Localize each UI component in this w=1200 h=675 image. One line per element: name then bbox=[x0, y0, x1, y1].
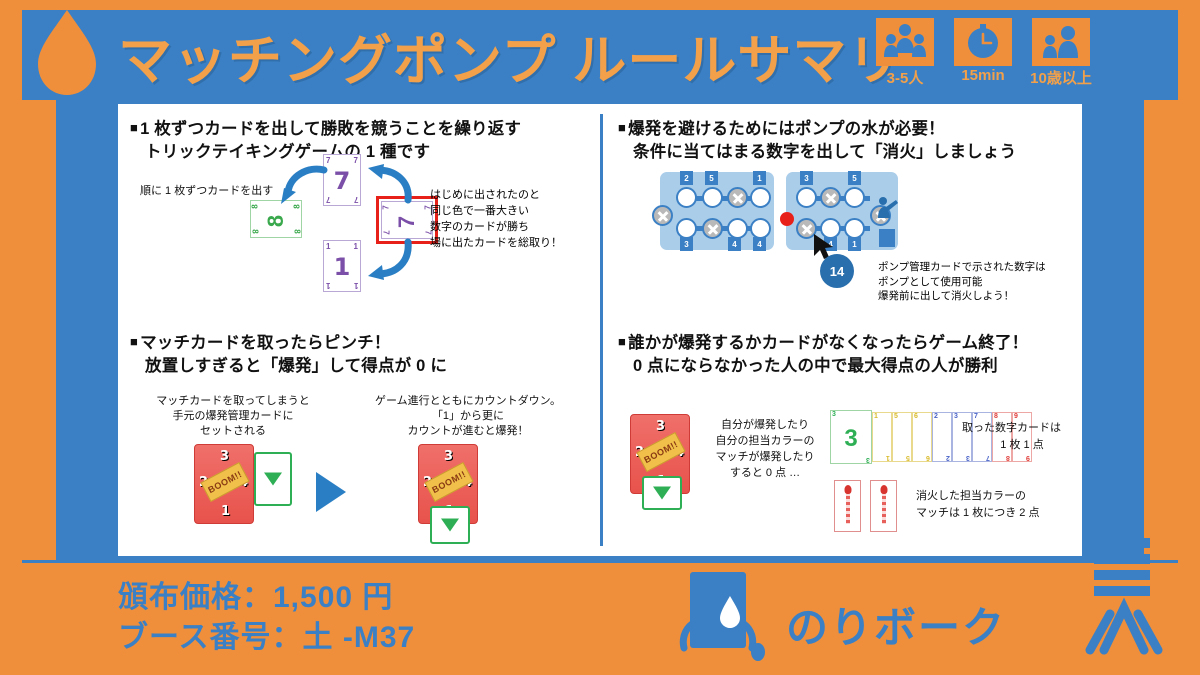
bullet-square: ■ bbox=[618, 120, 626, 135]
clock-icon bbox=[954, 18, 1012, 66]
pump-management-card: 14 bbox=[820, 254, 854, 288]
number-card: 1 1 bbox=[872, 412, 892, 462]
match-slot-right bbox=[254, 452, 292, 506]
age-icon bbox=[1032, 18, 1090, 66]
number-card-corner: 5 bbox=[906, 454, 910, 461]
number-card-corner: 2 bbox=[946, 454, 950, 461]
board-tag: 3 bbox=[800, 171, 813, 185]
numbercard-score-note: 取った数字カードは 1 枚 1 点 bbox=[962, 420, 1082, 453]
page-title: マッチングポンプ ルールサマリ bbox=[118, 16, 902, 95]
match-score-line1: 消火した担当カラーの bbox=[916, 488, 1086, 505]
card-corner-tr: 7 bbox=[354, 156, 358, 165]
board-tag: 2 bbox=[680, 171, 693, 185]
board-tag: 3 bbox=[680, 237, 693, 251]
match-slot-below bbox=[430, 506, 470, 544]
price-text: 頒布価格：1,500 円 bbox=[118, 572, 393, 616]
zero-score-line1: 自分が爆発したり bbox=[700, 418, 830, 434]
board-tag: 5 bbox=[848, 171, 861, 185]
section2-diagram: マッチカードを取ってしまうと 手元の爆発管理カードに セットされる 3 2 4 … bbox=[118, 394, 596, 554]
board-tag: 4 bbox=[728, 237, 741, 251]
brand-name: のりボーク bbox=[786, 594, 1006, 655]
pump-board-left: 2 5 1 3 4 4 bbox=[660, 172, 774, 250]
match-head-icon bbox=[880, 485, 887, 494]
pump-node bbox=[750, 218, 771, 239]
marker-red-dot bbox=[780, 212, 794, 226]
section1-diagram: 順に 1 枚ずつカードを出す 7 7 7 7 7 1 1 1 1 1 bbox=[118, 160, 596, 300]
winner-rule-text: はじめに出されたのと 同じ色で一番大きい 数字のカードが勝ち 場に出たカードを総… bbox=[430, 188, 562, 252]
section1-heading-line1: 1 枚ずつカードを出して勝敗を競うことを繰り返す bbox=[140, 120, 521, 138]
number-card-corner: 1 bbox=[874, 413, 878, 420]
booth-text: ブース番号：土 -M37 bbox=[118, 612, 415, 656]
section3-heading: ■爆発を避けるためにはポンプの水が必要！ 条件に当てはまる数字を出して「消火」し… bbox=[618, 118, 1016, 165]
pump-node bbox=[844, 218, 865, 239]
number-card-corner: 8 bbox=[994, 413, 998, 420]
badge-players: 3-5人 bbox=[874, 18, 936, 88]
badge-time-label: 15min bbox=[961, 67, 1004, 84]
number-card-corner: 5 bbox=[894, 413, 898, 420]
match-card bbox=[870, 480, 897, 532]
pump-node bbox=[844, 187, 865, 208]
section3-diagram: 2 5 1 3 4 4 bbox=[604, 164, 1082, 314]
header: マッチングポンプ ルールサマリ 3-5人 bbox=[0, 0, 1200, 100]
card-corner-tr: 1 bbox=[354, 242, 358, 251]
pump-node bbox=[676, 187, 697, 208]
number-card: 2 2 bbox=[932, 412, 952, 462]
section3-heading-line1: 爆発を避けるためにはポンプの水が必要！ bbox=[628, 120, 945, 138]
boom-label: BOOM!! bbox=[200, 462, 249, 502]
slot-arrow-icon bbox=[264, 473, 282, 486]
section4-heading: ■誰かが爆発するかカードがなくなったらゲーム終了！ 0 点にならなかった人の中で… bbox=[604, 332, 1082, 379]
badge-group: 3-5人 15min bbox=[874, 18, 1092, 88]
card-corner-bl: 8 bbox=[251, 229, 260, 233]
firefighter-icon bbox=[874, 194, 900, 225]
match-caption-left: マッチカードを取ってしまうと 手元の爆発管理カードに セットされる bbox=[138, 394, 328, 439]
board-tag: 4 bbox=[753, 237, 766, 251]
badge-age-label: 10歳以上 bbox=[1030, 67, 1092, 88]
section2-heading-line2: 放置しすぎると「爆発」して得点が 0 に bbox=[130, 355, 596, 378]
boom-label: BOOM!! bbox=[424, 462, 473, 502]
arrow-cycle-topleft bbox=[278, 164, 330, 208]
board-corner-tag bbox=[879, 229, 895, 247]
players-icon bbox=[876, 18, 934, 66]
pump-node bbox=[796, 187, 817, 208]
match-head-icon bbox=[844, 485, 851, 494]
boom-card-before: 3 2 4 1 BOOM!! bbox=[194, 444, 254, 524]
brand-block: のりボーク bbox=[668, 566, 1006, 667]
water-drop-character-icon bbox=[668, 566, 778, 667]
section4-heading-line1: 誰かが爆発するかカードがなくなったらゲーム終了！ bbox=[628, 334, 1028, 352]
number-card-corner: 2 bbox=[934, 413, 938, 420]
boom-label: BOOM!! bbox=[636, 432, 685, 472]
bullet-square: ■ bbox=[130, 120, 138, 135]
badge-players-label: 3-5人 bbox=[887, 67, 924, 88]
pump-note-line3: 爆発前に出して消火しよう！ bbox=[878, 289, 1046, 304]
match-card bbox=[834, 480, 861, 532]
number-card: 6 6 bbox=[912, 412, 932, 462]
boom-number-3: 3 bbox=[220, 449, 229, 464]
card-corner-bl: 1 bbox=[326, 281, 330, 290]
arrow-cycle-topright bbox=[364, 164, 416, 208]
frame-slab-left bbox=[0, 100, 56, 560]
number-card-value: 3 bbox=[831, 425, 871, 453]
card-corner-bl: 7 bbox=[382, 230, 391, 234]
zero-score-line2: 自分の担当カラーの bbox=[700, 434, 830, 450]
content-panel: ■1 枚ずつカードを出して勝敗を競うことを繰り返す トリックテイキングゲームの … bbox=[118, 104, 1082, 556]
pump-node bbox=[702, 187, 723, 208]
numbercard-score-line2: 1 枚 1 点 bbox=[962, 437, 1082, 454]
number-card: 5 5 bbox=[892, 412, 912, 462]
match-caption-left-line1: マッチカードを取ってしまうと bbox=[138, 394, 328, 409]
board-tag: 5 bbox=[705, 171, 718, 185]
zero-score-note: 自分が爆発したり 自分の担当カラーの マッチが爆発したり すると 0 点 … bbox=[700, 418, 830, 482]
card-corner-br: 8 bbox=[292, 229, 301, 233]
pump-node bbox=[750, 187, 771, 208]
matchstick-decoration-icon bbox=[1076, 536, 1172, 661]
pump-board-right: 3 5 4 1 bbox=[786, 172, 898, 250]
pump-note-line1: ポンプ管理カードで示された数字は bbox=[878, 260, 1046, 275]
match-caption-right-line2: 「1」から更に bbox=[368, 409, 568, 424]
match-score-line2: マッチは 1 枚につき 2 点 bbox=[916, 505, 1086, 522]
match-stick-icon bbox=[846, 490, 850, 524]
number-card-corner: 7 bbox=[986, 454, 990, 461]
number-card-corner: 3 bbox=[954, 413, 958, 420]
number-card-corner: 9 bbox=[1026, 454, 1030, 461]
winner-rule-line2: 同じ色で一番大きい bbox=[430, 204, 562, 220]
board-tag: 1 bbox=[753, 171, 766, 185]
number-card-corner: 6 bbox=[926, 454, 930, 461]
match-stick-icon bbox=[882, 490, 886, 524]
match-slot-zero bbox=[642, 476, 682, 510]
card-corner-br: 1 bbox=[354, 281, 358, 290]
frame-slab-right bbox=[1144, 100, 1200, 560]
card-corner-br: 7 bbox=[354, 195, 358, 204]
badge-time: 15min bbox=[952, 18, 1014, 88]
match-caption-right: ゲーム進行とともにカウントダウン。 「1」から更に カウントが進むと爆発！ bbox=[368, 394, 568, 439]
number-card-corner: 7 bbox=[974, 413, 978, 420]
arrow-cycle-bottomright bbox=[364, 236, 416, 280]
number-card-corner: 8 bbox=[1006, 454, 1010, 461]
section2-heading: ■マッチカードを取ったらピンチ！ 放置しすぎると「爆発」して得点が 0 に bbox=[118, 332, 596, 379]
flame-icon bbox=[22, 6, 112, 98]
match-score-note: 消火した担当カラーの マッチは 1 枚につき 2 点 bbox=[916, 488, 1086, 521]
column-divider bbox=[600, 114, 603, 546]
slot-arrow-icon bbox=[653, 487, 671, 500]
bullet-square: ■ bbox=[618, 334, 626, 349]
zero-score-line4: すると 0 点 … bbox=[700, 466, 830, 482]
pump-note-line2: ポンプとして使用可能 bbox=[878, 275, 1046, 290]
match-caption-left-line3: セットされる bbox=[138, 424, 328, 439]
right-column: ■爆発を避けるためにはポンプの水が必要！ 条件に当てはまる数字を出して「消火」し… bbox=[604, 104, 1082, 556]
pump-node-extinguished bbox=[727, 187, 748, 208]
pump-note: ポンプ管理カードで示された数字は ポンプとして使用可能 爆発前に出して消火しよう… bbox=[878, 260, 1046, 304]
pump-node-extinguished bbox=[820, 187, 841, 208]
pump-node bbox=[676, 218, 697, 239]
bullet-square: ■ bbox=[130, 334, 138, 349]
winner-rule-line3: 数字のカードが勝ち bbox=[430, 220, 562, 236]
winner-rule-line4: 場に出たカードを総取り！ bbox=[430, 236, 562, 252]
card-purple-bottom: 1 1 1 1 1 bbox=[323, 240, 361, 292]
progress-arrow-icon bbox=[316, 472, 346, 512]
numbercard-score-line1: 取った数字カードは bbox=[962, 420, 1082, 437]
number-card-corner: 1 bbox=[886, 454, 890, 461]
boom-number-3: 3 bbox=[444, 449, 453, 464]
pump-node-extinguished bbox=[702, 218, 723, 239]
badge-age: 10歳以上 bbox=[1030, 18, 1092, 88]
board-tag: 1 bbox=[848, 237, 861, 251]
number-card-corner: 3 bbox=[832, 411, 836, 418]
section4-diagram: 3 2 4 1 BOOM!! 自分が爆発したり 自分の担当カラーの マッチが爆発… bbox=[604, 396, 1082, 556]
card-value: 1 bbox=[324, 253, 360, 281]
poster-root: マッチングポンプ ルールサマリ 3-5人 bbox=[0, 0, 1200, 675]
section2-heading-line1: マッチカードを取ったらピンチ！ bbox=[140, 334, 391, 352]
match-caption-right-line1: ゲーム進行とともにカウントダウン。 bbox=[368, 394, 568, 409]
order-caption: 順に 1 枚ずつカードを出す bbox=[140, 184, 273, 199]
left-column: ■1 枚ずつカードを出して勝敗を競うことを繰り返す トリックテイキングゲームの … bbox=[118, 104, 596, 556]
winner-rule-line1: はじめに出されたのと bbox=[430, 188, 562, 204]
number-card-corner: 9 bbox=[1014, 413, 1018, 420]
section3-heading-line2: 条件に当てはまる数字を出して「消火」しましょう bbox=[618, 141, 1016, 164]
zero-score-line3: マッチが爆発したり bbox=[700, 450, 830, 466]
number-card: 3 3 3 bbox=[830, 410, 872, 464]
boom-number-1: 1 bbox=[221, 504, 230, 519]
card-corner-tl: 1 bbox=[326, 242, 330, 251]
card-corner-tl: 8 bbox=[251, 204, 260, 208]
boom-number-3: 3 bbox=[656, 419, 665, 434]
pump-node bbox=[727, 218, 748, 239]
pump-node-extinguished bbox=[652, 205, 673, 226]
number-card-corner: 6 bbox=[914, 413, 918, 420]
section4-heading-line2: 0 点にならなかった人の中で最大得点の人が勝利 bbox=[618, 355, 1082, 378]
number-card-corner: 3 bbox=[866, 456, 870, 463]
match-caption-right-line3: カウントが進むと爆発！ bbox=[368, 424, 568, 439]
number-card-corner: 3 bbox=[966, 454, 970, 461]
slot-arrow-icon bbox=[441, 519, 459, 532]
match-caption-left-line2: 手元の爆発管理カードに bbox=[138, 409, 328, 424]
